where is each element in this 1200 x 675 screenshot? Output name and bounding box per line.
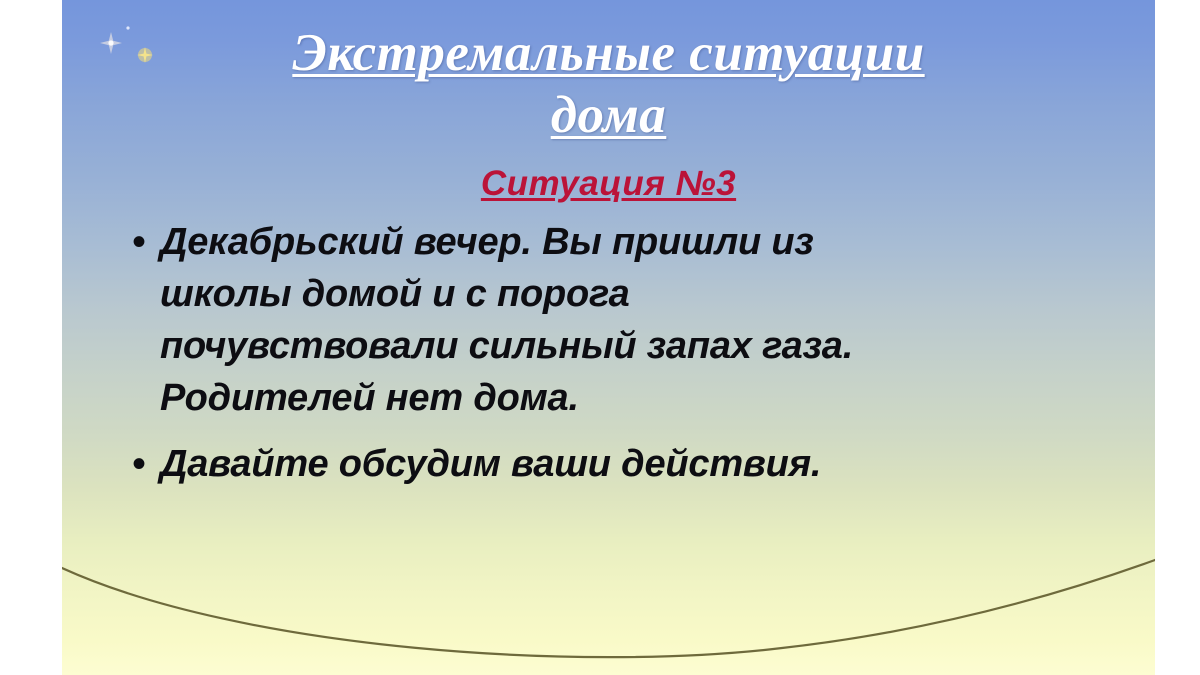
bullet-marker-icon: • (122, 216, 160, 268)
slide-title: Экстремальные ситуации дома (62, 22, 1155, 146)
bullet-marker-icon: • (122, 438, 160, 490)
bullet-line: почувствовали сильный запах газа. (160, 325, 853, 367)
slide-title-line-2: дома (551, 84, 667, 146)
list-item: • Декабрьский вечер. Вы пришли из школы … (122, 216, 1132, 424)
slide-root: Экстремальные ситуации дома Ситуация №3 … (0, 0, 1200, 675)
slide-canvas: Экстремальные ситуации дома Ситуация №3 … (62, 0, 1155, 675)
bullet-line: Родителей нет дома. (160, 377, 579, 419)
bullet-line: Давайте обсудим ваши действия. (160, 443, 821, 485)
slide-title-line-1: Экстремальные ситуации (62, 22, 1155, 84)
bullet-text-2: Давайте обсудим ваши действия. (160, 438, 1132, 490)
bullet-line: школы домой и с порога (160, 273, 630, 315)
bullet-text-1: Декабрьский вечер. Вы пришли из школы до… (160, 216, 1132, 424)
list-item: • Давайте обсудим ваши действия. (122, 438, 1132, 490)
bullet-list: • Декабрьский вечер. Вы пришли из школы … (122, 216, 1132, 504)
slide-subtitle: Ситуация №3 (62, 162, 1155, 206)
bullet-line: Декабрьский вечер. Вы пришли из (160, 221, 814, 263)
